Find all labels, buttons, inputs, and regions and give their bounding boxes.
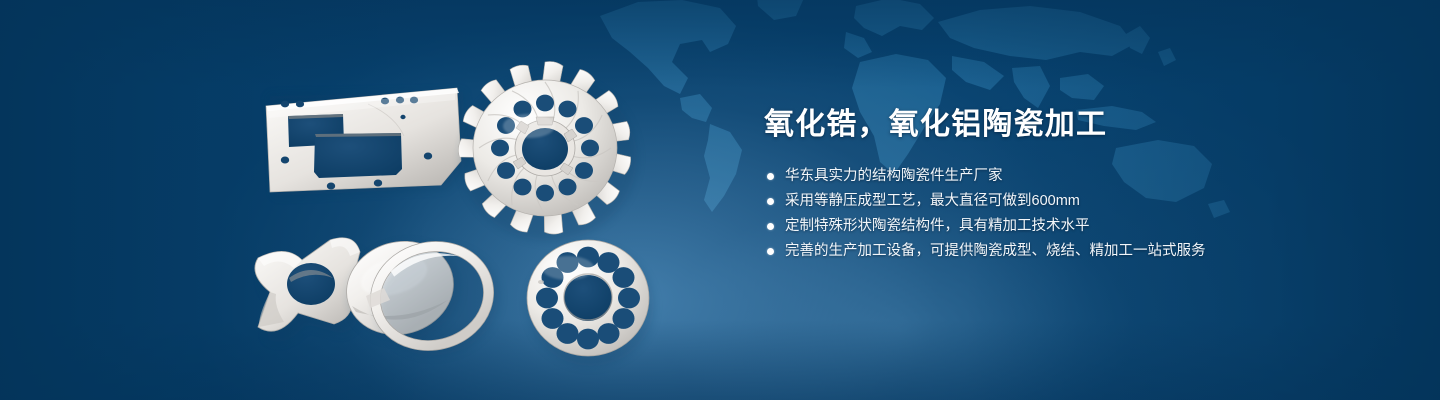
ceramic-mounting-plate	[266, 88, 466, 196]
list-item-label: 定制特殊形状陶瓷结构件，具有精加工技术水平	[785, 214, 1090, 238]
page-title: 氧化锆，氧化铝陶瓷加工	[764, 104, 1322, 146]
ceramic-perforated-disc	[527, 240, 654, 366]
feature-list: 华东具实力的结构陶瓷件生产厂家 采用等静压成型工艺，最大直径可做到600mm 定…	[762, 164, 1322, 263]
list-item: 华东具实力的结构陶瓷件生产厂家	[762, 164, 1322, 188]
ceramic-products-photo	[0, 0, 720, 400]
bullet-dot-icon	[767, 198, 774, 205]
banner-text-column: 氧化锆，氧化铝陶瓷加工 华东具实力的结构陶瓷件生产厂家 采用等静压成型工艺，最大…	[762, 104, 1322, 264]
list-item-label: 完善的生产加工设备，可提供陶瓷成型、烧结、精加工一站式服务	[785, 239, 1206, 263]
ceramic-processing-banner: 氧化锆，氧化铝陶瓷加工 华东具实力的结构陶瓷件生产厂家 采用等静压成型工艺，最大…	[0, 0, 1440, 400]
list-item: 定制特殊形状陶瓷结构件，具有精加工技术水平	[762, 214, 1322, 238]
list-item: 完善的生产加工设备，可提供陶瓷成型、烧结、精加工一站式服务	[762, 239, 1322, 263]
bullet-dot-icon	[767, 173, 774, 180]
ceramic-impeller-wheel	[457, 62, 637, 242]
bullet-dot-icon	[767, 223, 774, 230]
list-item-label: 华东具实力的结构陶瓷件生产厂家	[785, 164, 1003, 188]
list-item-label: 采用等静压成型工艺，最大直径可做到600mm	[785, 189, 1080, 213]
list-item: 采用等静压成型工艺，最大直径可做到600mm	[762, 189, 1322, 213]
bullet-dot-icon	[767, 248, 774, 255]
